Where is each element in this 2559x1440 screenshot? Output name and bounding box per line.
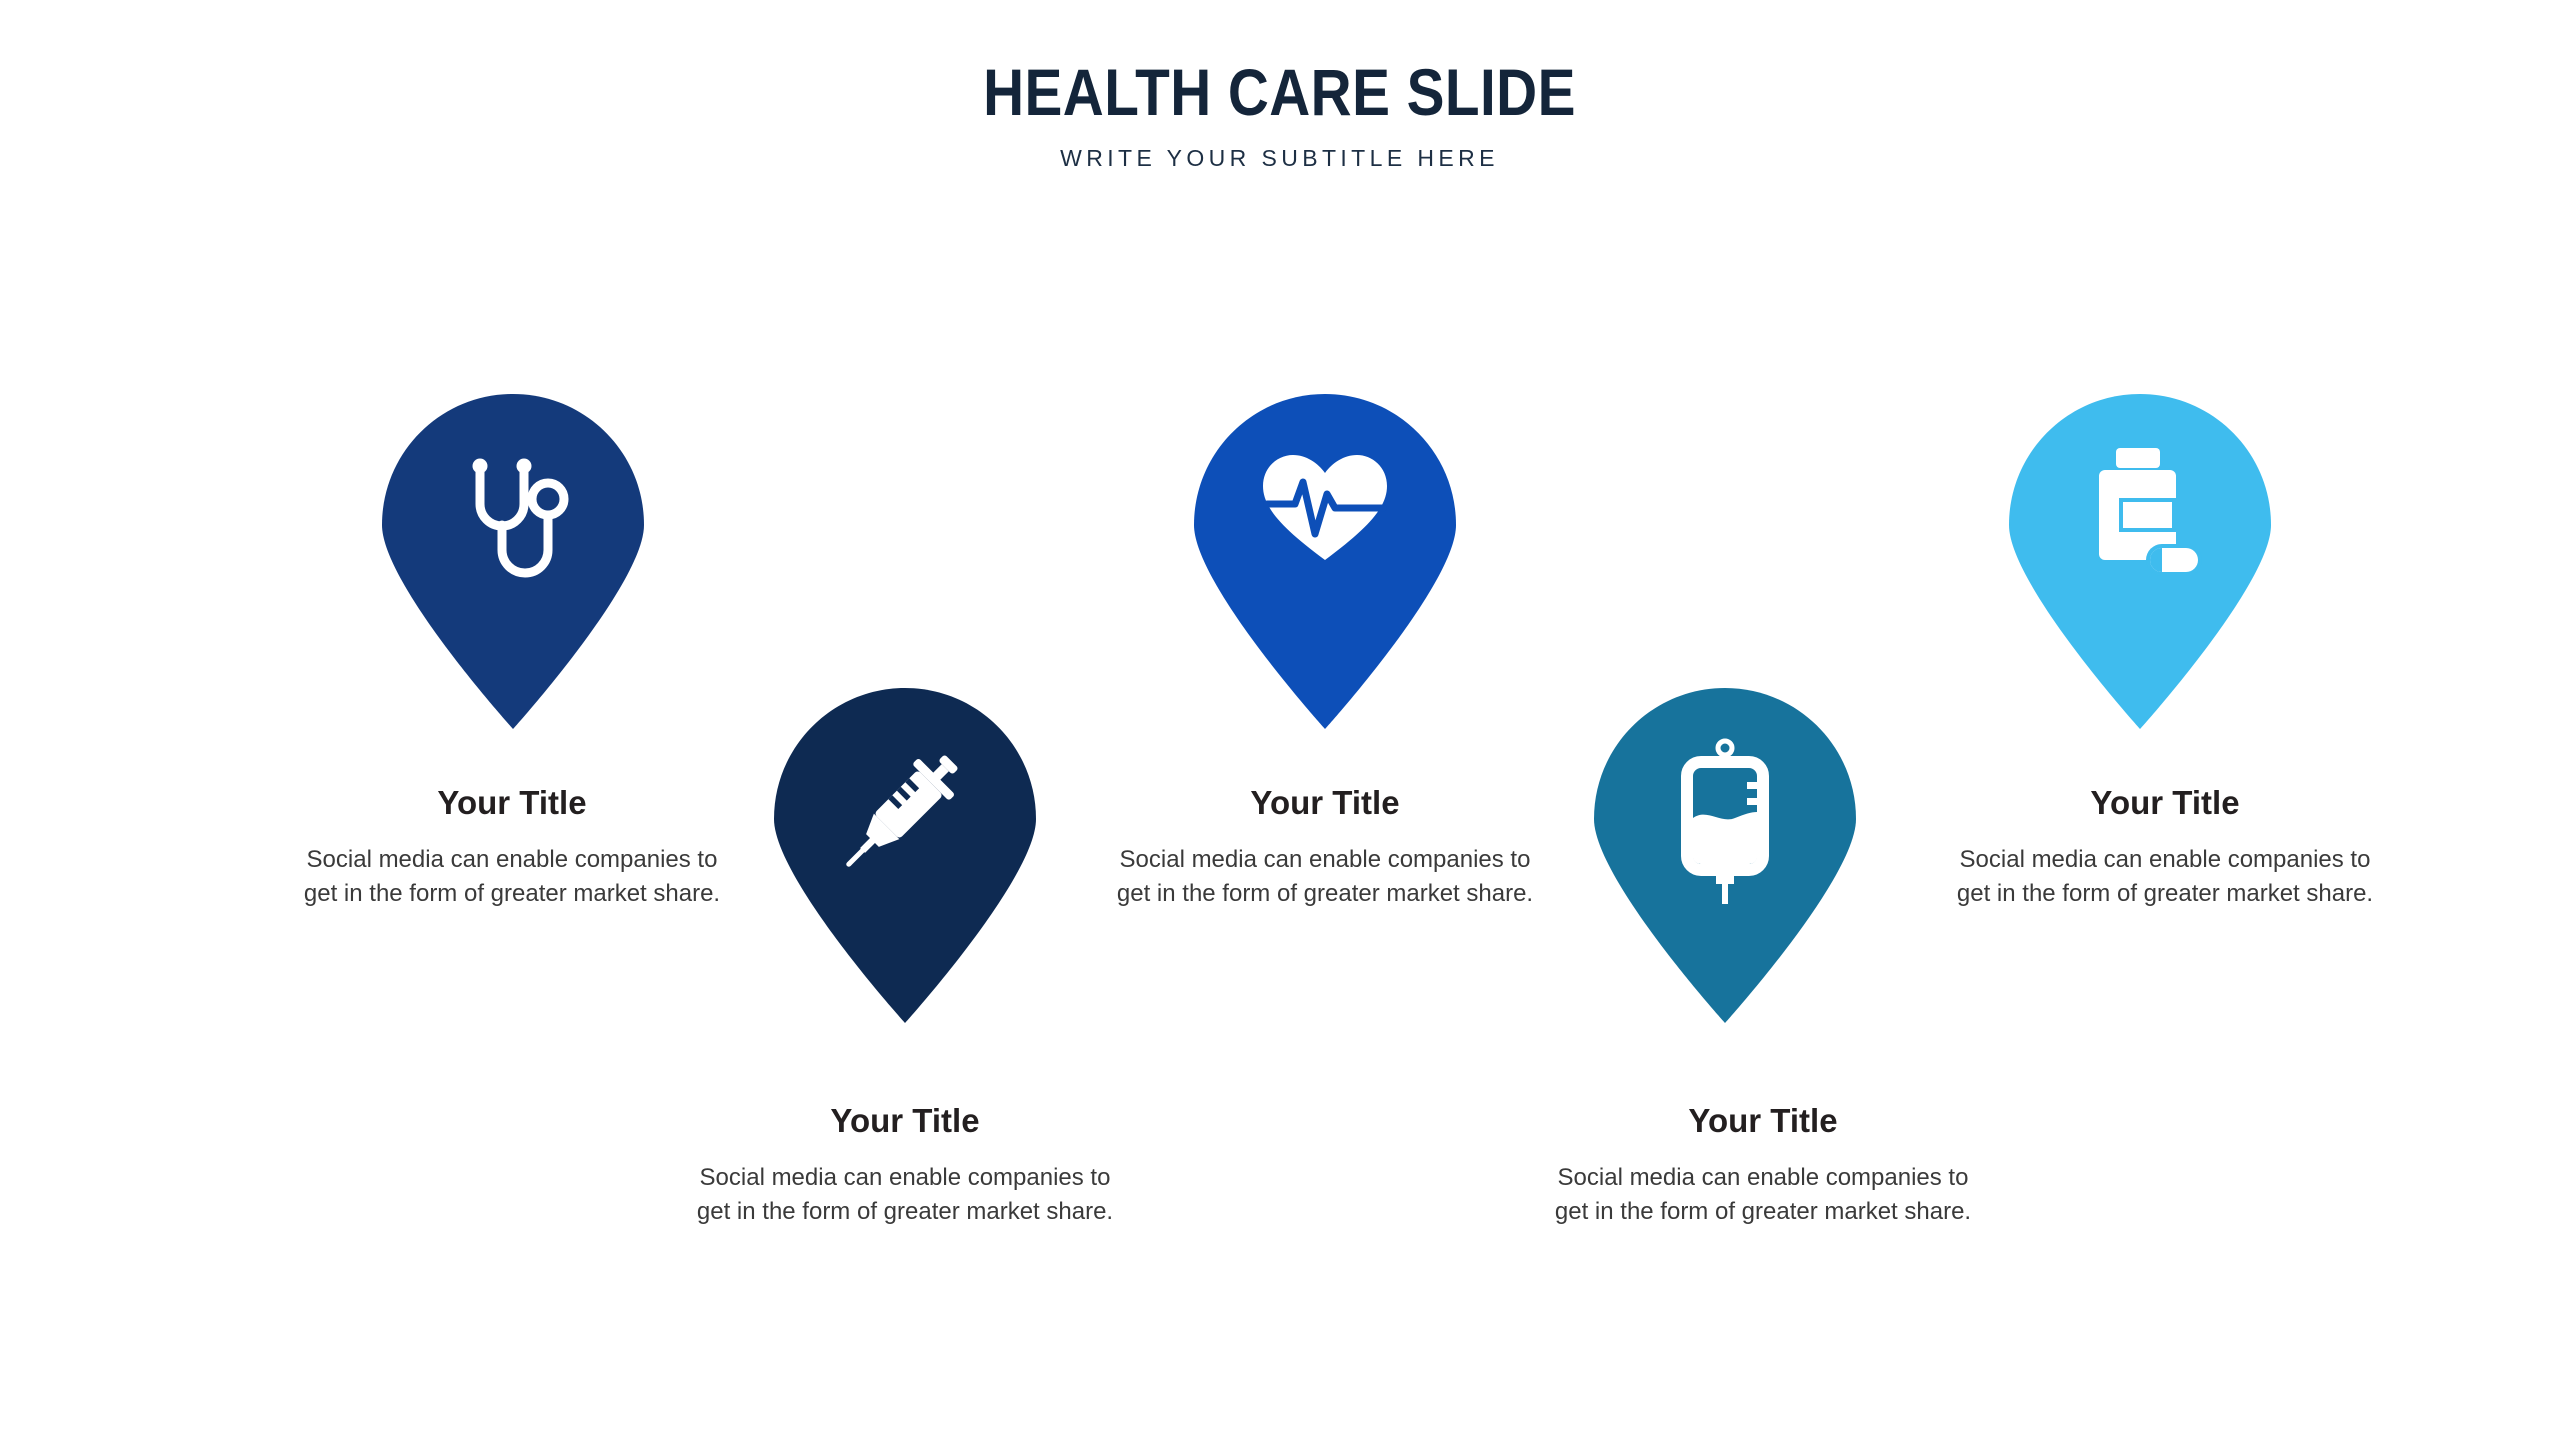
pin-marker-2[interactable]: [774, 688, 1036, 1023]
page-title: HEALTH CARE SLIDE: [179, 58, 2380, 127]
text-block-4: Your Title Social media can enable compa…: [1553, 1103, 1973, 1229]
text-block-5: Your Title Social media can enable compa…: [1955, 785, 2375, 911]
page-subtitle: WRITE YOUR SUBTITLE HERE: [0, 145, 2559, 172]
item-title-5: Your Title: [1955, 785, 2375, 821]
item-body-3: Social media can enable companies to get…: [1115, 843, 1535, 911]
text-block-2: Your Title Social media can enable compa…: [695, 1103, 1115, 1229]
pin-marker-4[interactable]: [1594, 688, 1856, 1023]
item-title-1: Your Title: [302, 785, 722, 821]
pin-marker-5[interactable]: [2009, 394, 2271, 729]
item-title-4: Your Title: [1553, 1103, 1973, 1139]
item-body-1: Social media can enable companies to get…: [302, 843, 722, 911]
slide-header: HEALTH CARE SLIDE WRITE YOUR SUBTITLE HE…: [0, 58, 2559, 172]
item-body-5: Social media can enable companies to get…: [1955, 843, 2375, 911]
pin-marker-1[interactable]: [382, 394, 644, 729]
item-body-4: Social media can enable companies to get…: [1553, 1161, 1973, 1229]
item-title-3: Your Title: [1115, 785, 1535, 821]
text-block-1: Your Title Social media can enable compa…: [302, 785, 722, 911]
pin-marker-3[interactable]: [1194, 394, 1456, 729]
slide-canvas: HEALTH CARE SLIDE WRITE YOUR SUBTITLE HE…: [0, 0, 2559, 1440]
text-block-3: Your Title Social media can enable compa…: [1115, 785, 1535, 911]
item-title-2: Your Title: [695, 1103, 1115, 1139]
item-body-2: Social media can enable companies to get…: [695, 1161, 1115, 1229]
